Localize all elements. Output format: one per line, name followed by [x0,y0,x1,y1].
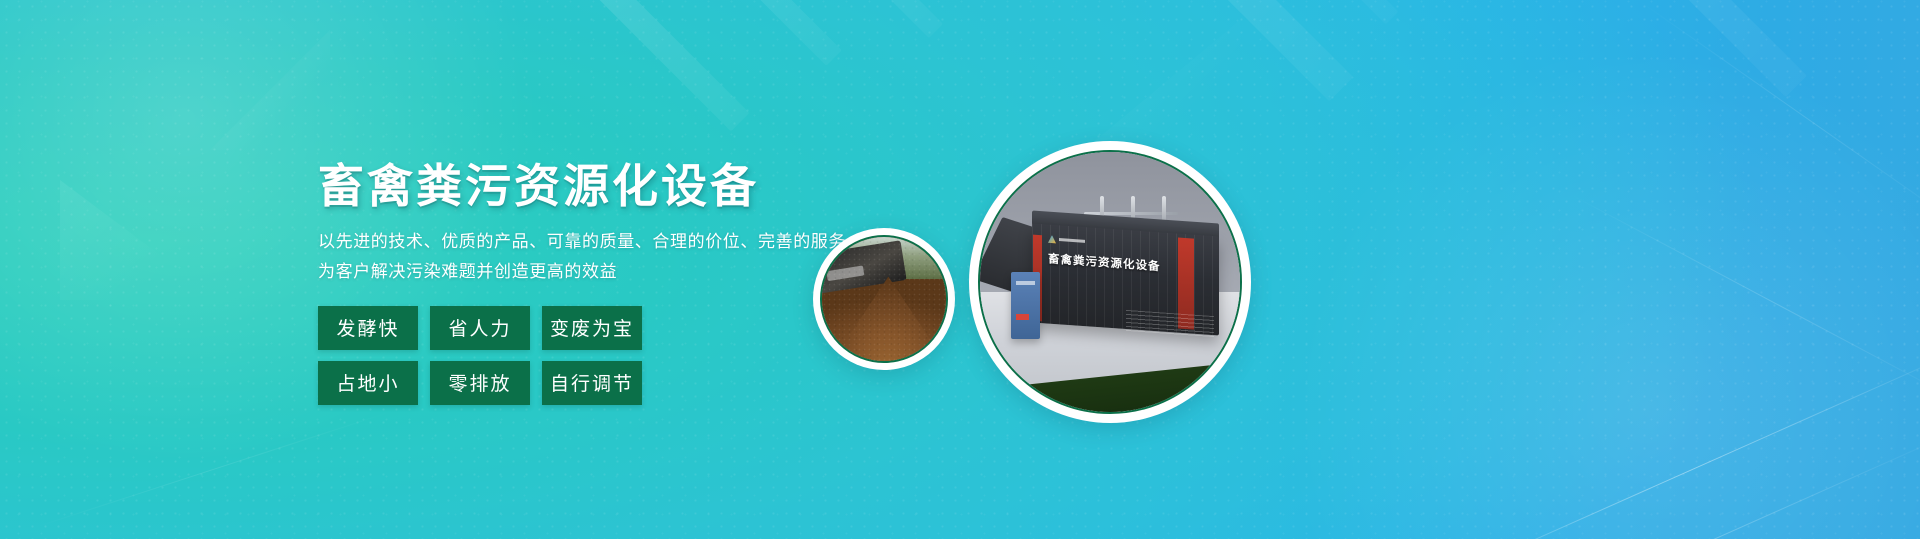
decor-triangle [60,180,220,300]
decor-hairline [1444,431,1920,539]
decor-triangle [210,30,330,150]
feature-badge-small-footprint[interactable]: 占地小 [318,361,418,405]
logo-mark-icon [1048,235,1056,244]
decor-diagonal-stripe [1732,0,1864,1]
decor-diagonal-stripe [1623,0,1807,97]
decor-diagonal-stripe [837,0,943,38]
decor-diagonal-stripe [720,0,842,66]
equipment-render-ring: 畜禽粪污资源化设备 [978,150,1242,414]
decor-diagonal-stripe [597,0,750,131]
decor-hairline [1638,0,1920,241]
scene-vent-stack [1131,196,1135,219]
decor-hairline [1567,192,1920,409]
page-title: 畜禽粪污资源化设备 [318,160,958,213]
decor-hairline [1407,344,1920,539]
feature-badge-fast-fermentation[interactable]: 发酵快 [318,306,418,350]
feature-badge-self-adjusting[interactable]: 自行调节 [542,361,642,405]
scene-vent-stack [1162,196,1166,219]
equipment-render-circle[interactable]: 畜禽粪污资源化设备 [969,141,1251,423]
promo-banner: 畜禽粪污资源化设备 以先进的技术、优质的产品、可靠的质量、合理的价位、完善的服务… [0,0,1920,539]
logo-wordmark [1059,238,1085,243]
scene-control-cabinet [1011,272,1040,340]
feature-badge-group: 发酵快 省人力 变废为宝 占地小 零排放 自行调节 [318,306,663,405]
decor-diagonal-stripe [1280,0,1399,24]
decor-diagonal-stripe [1181,0,1354,101]
equipment-3d-render: 畜禽粪污资源化设备 [980,152,1240,412]
compost-photo-ring [820,235,948,363]
feature-badge-waste-to-treasure[interactable]: 变废为宝 [542,306,642,350]
compost-grain-texture [822,237,946,361]
feature-badge-zero-emission[interactable]: 零排放 [430,361,530,405]
background-glow-right [1200,59,1920,539]
decor-hairline [29,411,391,529]
background-noise-texture [0,0,1920,539]
compost-photo-circle[interactable] [813,228,955,370]
compost-pile-image [822,237,946,361]
feature-badge-labor-saving[interactable]: 省人力 [430,306,530,350]
